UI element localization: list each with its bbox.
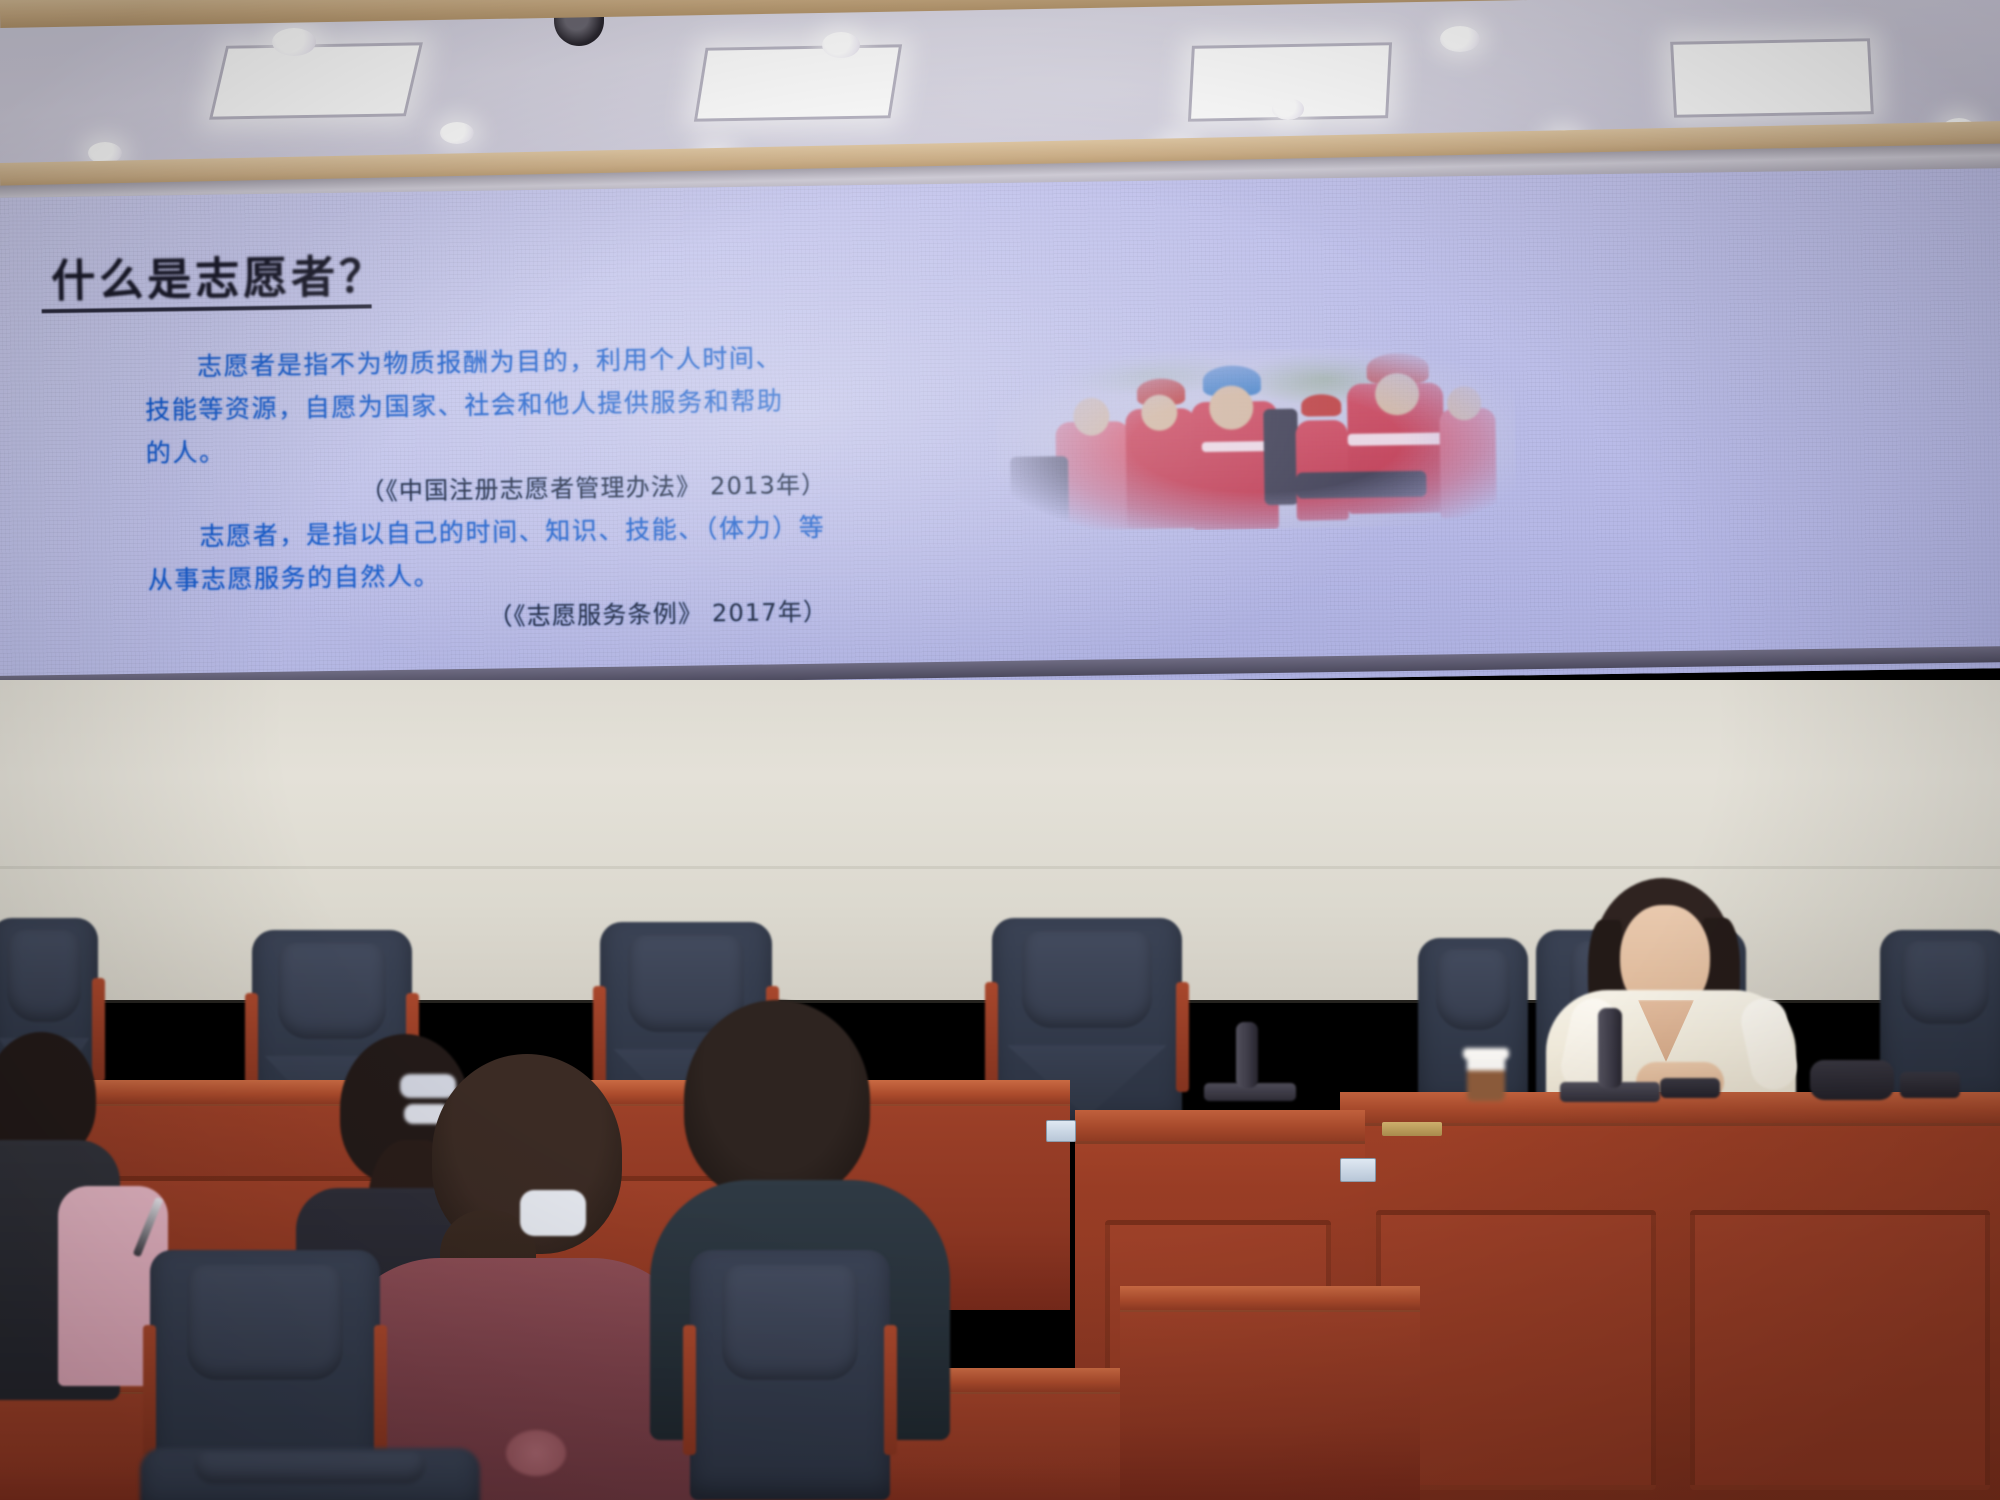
- ceiling-downlight: [272, 28, 316, 56]
- ceiling-panel-light: [694, 44, 902, 121]
- desk-front-panel: [1690, 1210, 1990, 1490]
- desk-device: [1900, 1072, 1960, 1098]
- audience-desk-side: [1120, 1286, 1420, 1500]
- led-wall-screen: 什么是志愿者？ 志愿者是指不为物质报酬为目的，利用个人时间、 技能等资源，自愿为…: [0, 168, 2000, 698]
- slide-volunteers-photo: [994, 345, 1517, 533]
- desk-brass-trim: [1382, 1122, 1442, 1136]
- desk-device: [1810, 1060, 1894, 1100]
- ceiling-downlight: [440, 122, 474, 144]
- slide-body-text: 志愿者是指不为物质报酬为目的，利用个人时间、 技能等资源，自愿为国家、社会和他人…: [144, 336, 828, 644]
- desk-placard: [1340, 1158, 1376, 1182]
- desk-placard: [1046, 1120, 1076, 1142]
- desk-edge: [1075, 1110, 1365, 1144]
- foreground-chair: [140, 1448, 480, 1500]
- face-mask: [520, 1190, 586, 1236]
- coffee-cup-lid: [1463, 1048, 1509, 1059]
- ceiling-downlight: [1440, 26, 1480, 52]
- coffee-cup: [1467, 1053, 1505, 1101]
- desk-device: [1660, 1078, 1720, 1098]
- ceiling-panel-light: [209, 42, 423, 119]
- foreground-chair: [690, 1250, 890, 1500]
- slide-title: 什么是志愿者？: [51, 240, 388, 309]
- ceiling-downlight: [1272, 98, 1304, 120]
- microphone-stem: [1236, 1022, 1258, 1088]
- wall-seam: [0, 866, 2000, 869]
- ceiling-panel-light: [1670, 38, 1874, 117]
- conference-room-photo: 什么是志愿者？ 志愿者是指不为物质报酬为目的，利用个人时间、 技能等资源，自愿为…: [0, 0, 2000, 1500]
- microphone-stem: [1598, 1008, 1622, 1088]
- rostrum-desk-right: [1340, 1092, 2000, 1500]
- ceiling-downlight: [822, 32, 860, 58]
